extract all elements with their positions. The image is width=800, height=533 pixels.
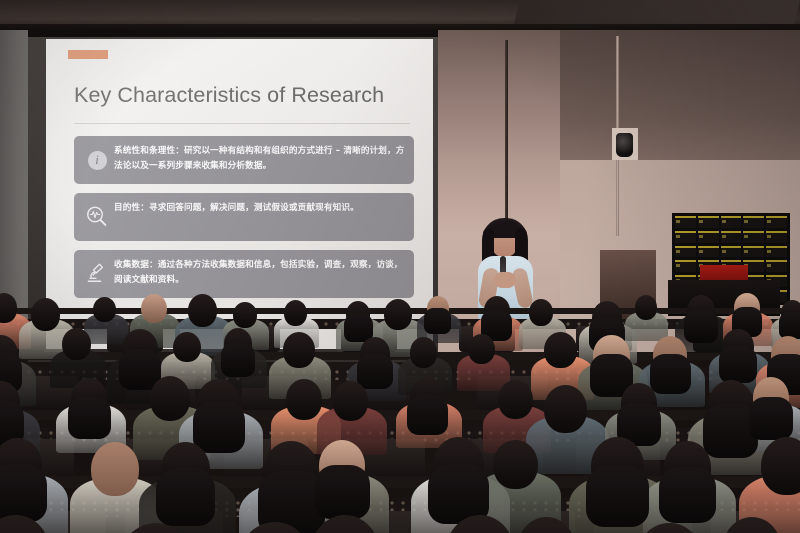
- audience-person-head: [384, 299, 412, 331]
- microscope-icon: [80, 257, 114, 291]
- audience-person-head: [333, 381, 369, 421]
- lecture-hall-scene: Key Characteristics of Research i 系统性和条理…: [0, 0, 800, 533]
- info-icon: i: [80, 143, 114, 177]
- right-wall-upper: [560, 30, 800, 180]
- audience-person-head: [592, 301, 622, 334]
- seated-audience: [0, 290, 800, 533]
- audience-person-head: [664, 441, 712, 494]
- mic-stand-pole: [505, 40, 508, 220]
- audience-person-head: [284, 300, 307, 326]
- audience-person-head: [498, 380, 533, 419]
- list-item-text: 收集数据：通过各种方法收集数据和信息，包括实验，调查，观察，访谈，阅读文献和资料…: [114, 256, 405, 288]
- audience-person-head: [197, 379, 240, 427]
- audience-person-head: [468, 334, 495, 364]
- audience-person-head: [71, 378, 107, 418]
- audience-person-head: [529, 299, 553, 326]
- audience-person-head: [161, 442, 210, 497]
- bullet-list: i 系统性和条理性：研究以一种有结构和有组织的方式进行 – 清晰的计划，方法论以…: [74, 136, 414, 307]
- audience-person-head: [188, 294, 218, 327]
- audience-person-head: [62, 328, 91, 360]
- audience-person-head: [173, 332, 201, 363]
- audience-person-head: [319, 440, 365, 492]
- audience-person-head: [544, 385, 587, 433]
- audience-person-head: [687, 295, 715, 326]
- audience-person-head: [635, 295, 657, 320]
- presenter-hands: [494, 272, 516, 288]
- audience-person-head: [150, 376, 190, 421]
- audience-person-head: [653, 336, 687, 374]
- magnifier-pulse-icon: [80, 200, 114, 234]
- audience-person-head: [224, 328, 253, 360]
- audience-person-head: [283, 332, 315, 368]
- audience-person-head: [753, 377, 789, 418]
- audience-person-head: [91, 442, 139, 496]
- audience-person-head: [93, 297, 115, 322]
- audience-person-head: [433, 437, 484, 494]
- wall-mounted-camera-icon: [612, 128, 638, 160]
- audience-person-head: [346, 301, 370, 328]
- audience-person-head: [484, 296, 510, 325]
- audience-person-head: [734, 293, 760, 322]
- audience-person-head: [122, 329, 158, 369]
- audience-person-head: [493, 440, 538, 490]
- list-item-text: 系统性和条理性：研究以一种有结构和有组织的方式进行 – 清晰的计划，方法论以及一…: [114, 142, 405, 174]
- accent-bar: [68, 50, 108, 59]
- audience-person-head: [544, 332, 576, 368]
- audience-person-head: [360, 337, 390, 371]
- audience-person-head: [722, 329, 753, 364]
- list-item: 目的性：寻求回答问题，解决问题，测试假设或贡献现有知识。: [74, 193, 414, 241]
- audience-person-head: [708, 380, 754, 431]
- info-icon-glyph: i: [88, 151, 107, 170]
- title-divider: [74, 123, 410, 124]
- audience-person-head: [233, 302, 256, 328]
- list-item: i 系统性和条理性：研究以一种有结构和有组织的方式进行 – 清晰的计划，方法论以…: [74, 136, 414, 184]
- ceiling-tile: [514, 0, 800, 26]
- audience-person-head: [591, 437, 644, 496]
- audience-person-head: [771, 336, 800, 375]
- audience-person-head: [286, 379, 322, 419]
- audience-person-head: [593, 335, 629, 376]
- audience-person-head: [761, 437, 800, 495]
- page-title: Key Characteristics of Research: [74, 83, 414, 108]
- audience-person-head: [31, 298, 60, 331]
- screen-top-roller: [28, 30, 438, 37]
- audience-person-head: [263, 441, 319, 504]
- audience-person-head: [427, 296, 449, 321]
- list-item-text: 目的性：寻求回答问题，解决问题，测试假设或贡献现有知识。: [114, 199, 359, 216]
- audience-person-head: [141, 294, 167, 323]
- audience-person-head: [410, 377, 444, 415]
- audience-person-head: [410, 337, 438, 368]
- audience-person-head: [781, 300, 800, 326]
- audience-person-head: [621, 383, 658, 424]
